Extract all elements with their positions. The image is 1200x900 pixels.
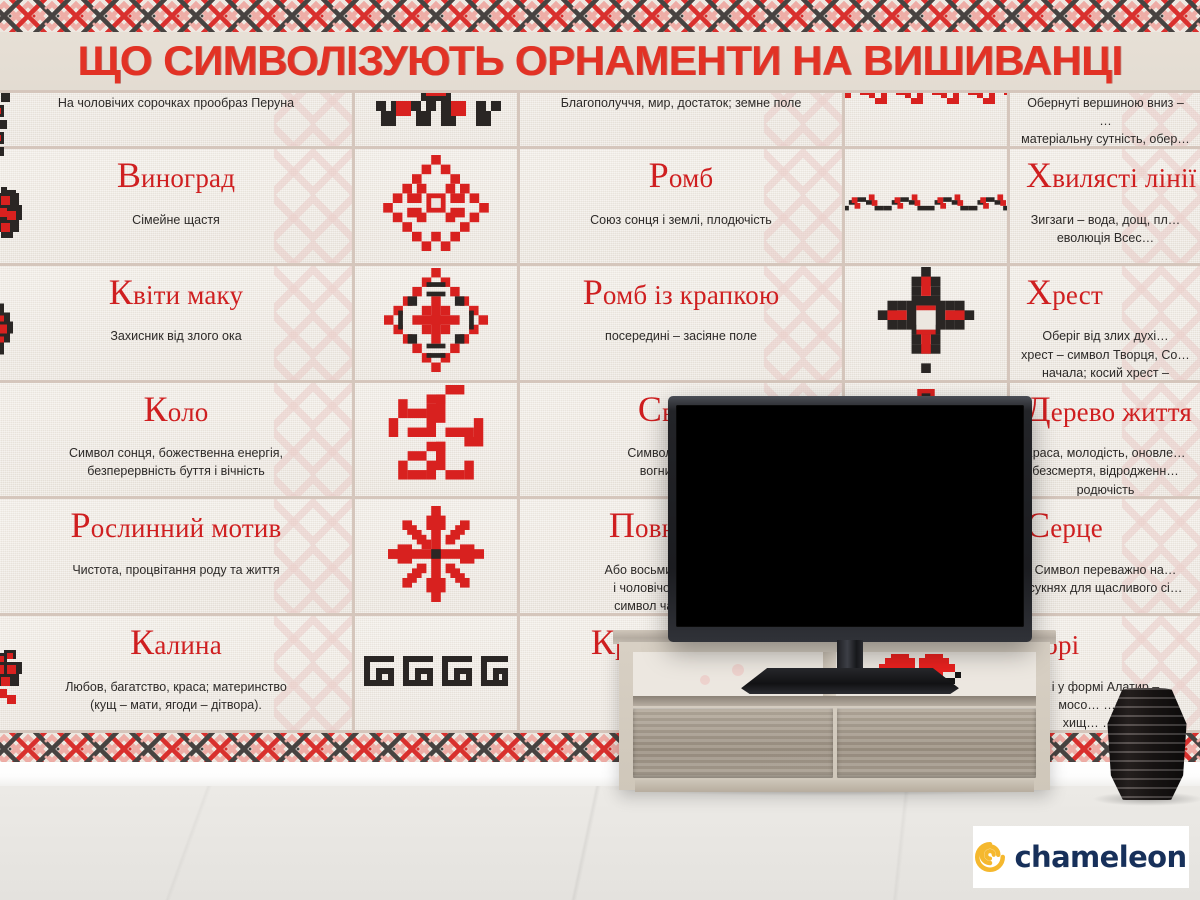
tv-screen[interactable] (676, 405, 1024, 627)
panel-left-4: КолоСимвол сонця, божественна енергія,бе… (0, 383, 355, 500)
motif-cell-middle-4 (355, 383, 520, 500)
tv-console[interactable] (613, 630, 1056, 790)
panel-description: Краса, молодість, оновле…безсмертя, відр… (1020, 444, 1191, 498)
wavy-line-motif (845, 183, 1010, 228)
ghost-ornament (274, 149, 352, 263)
meander-motif (361, 647, 511, 700)
panel-middle-3: Ромб із крапкоюпосередині – засіяне поле (520, 266, 845, 383)
vase-body (1104, 688, 1190, 800)
panel-right-3: ХрестОберіг від злих духі…хрест – символ… (1010, 266, 1200, 383)
panel-description: Символ сонця, божественна енергія,безпер… (69, 444, 283, 480)
spiral-icon (975, 842, 1005, 872)
console-plinth (635, 780, 1034, 792)
console-drawer-left[interactable] (633, 708, 833, 778)
panel-title: Калина (130, 624, 222, 662)
panel-description: Чистота, процвітання роду та життя (72, 561, 279, 579)
chameleon-logo[interactable]: chameleon (973, 826, 1189, 888)
panel-title: Ромб із крапкою (583, 274, 780, 312)
motif-cell-right-2 (845, 149, 1010, 266)
panel-description: Оберіг від злих духі…хрест – символ Твор… (1020, 327, 1191, 382)
panel-description: Благополуччя, мир, достаток; земне поле (561, 94, 802, 112)
console-mid-shelf (633, 696, 1036, 706)
panel-title: Серце (1026, 507, 1103, 545)
panel-title: Дерево життя (1026, 391, 1192, 429)
panel-title: Коло (144, 391, 209, 429)
panel-title: Квіти маку (109, 274, 243, 312)
panel-title: Хвилясті лінії (1026, 157, 1196, 195)
mural-headline-banner: ЩО СИМВОЛІЗУЮТЬ ОРНАМЕНТИ НА ВИШИВАНЦІ (0, 32, 1200, 93)
tv-stand-base (741, 668, 959, 694)
panel-description: На чоловічих сорочках прообраз Перуна (58, 94, 294, 112)
ghost-ornament (764, 149, 842, 263)
panel-title: Рослинний мотив (71, 507, 282, 545)
console-drawer-row (633, 708, 1036, 778)
black-ribbed-vase[interactable] (1104, 688, 1190, 800)
motif-cell-middle-2 (355, 149, 520, 266)
panel-description: Сімейне щастя (132, 211, 220, 229)
panel-title: Хрест (1026, 274, 1103, 312)
panel-middle-2: РомбСоюз сонця і землі, плодючість (520, 149, 845, 266)
tv-bezel (668, 396, 1032, 642)
cross-stitch-border-top (0, 0, 1200, 32)
rhombus-motif (377, 155, 495, 256)
panel-right-4: Дерево життяКраса, молодість, оновле…без… (1010, 383, 1200, 500)
panel-left-6: КалинаЛюбов, багатство, краса; материнст… (0, 616, 355, 733)
rhombus-dot-motif (384, 268, 488, 377)
panel-description: Зигзаги – вода, дощ, пл…еволюція Всес… (1020, 211, 1191, 247)
console-drawer-right[interactable] (837, 708, 1037, 778)
motif-cell-middle-3 (355, 266, 520, 383)
panel-description: Символ переважно на…сукнях для щасливого… (1020, 561, 1191, 597)
panel-left-2: ВиноградСімейне щастя (0, 149, 355, 266)
panel-title: Ромб (649, 157, 714, 195)
cross-motif (876, 267, 976, 378)
flat-screen-tv[interactable] (668, 396, 1032, 642)
panel-description: Захисник від злого ока (110, 327, 241, 345)
panel-title: Виноград (117, 157, 235, 195)
console-body (619, 642, 1050, 790)
panel-description: посередині – засіяне поле (605, 327, 757, 345)
panel-description: Любов, багатство, краса; материнство(кущ… (65, 678, 287, 714)
mural-headline: ЩО СИМВОЛІЗУЮТЬ ОРНАМЕНТИ НА ВИШИВАНЦІ (78, 37, 1123, 85)
svarga-motif (381, 385, 491, 494)
panel-left-5: Рослинний мотивЧистота, процвітання роду… (0, 499, 355, 616)
panel-description: Обернуті вершиною вниз – …матеріальну су… (1020, 94, 1191, 149)
ghost-ornament (274, 266, 352, 380)
ghost-ornament (274, 383, 352, 497)
logo-wordmark: chameleon (1014, 840, 1186, 874)
room-scene: ЩО СИМВОЛІЗУЮТЬ ОРНАМЕНТИ НА ВИШИВАНЦІ Г… (0, 0, 1200, 900)
panel-left-3: Квіти макуЗахисник від злого ока (0, 266, 355, 383)
motif-cell-right-3 (845, 266, 1010, 383)
ghost-ornament (274, 499, 352, 613)
panel-description: Союз сонця і землі, плодючість (590, 211, 772, 229)
panel-right-5: СерцеСимвол переважно на…сукнях для щасл… (1010, 499, 1200, 616)
full-rose-motif (388, 506, 484, 607)
motif-cell-middle-5 (355, 499, 520, 616)
panel-right-2: Хвилясті лініїЗигзаги – вода, дощ, пл…ев… (1010, 149, 1200, 266)
motif-cell-middle-6 (355, 616, 520, 733)
